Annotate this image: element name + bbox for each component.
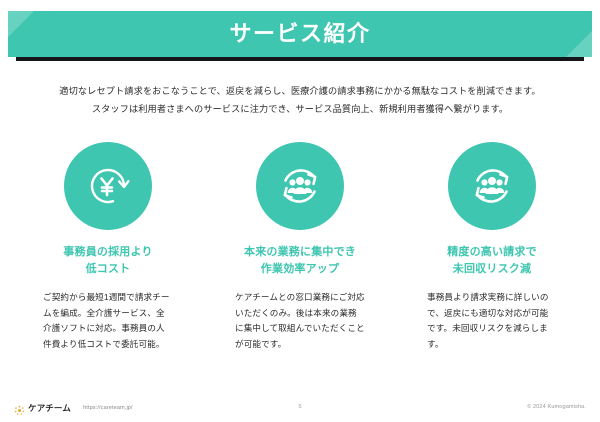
feature-body: ケアチームとの窓口業務にご対応いただくのみ。後は本来の業務に集中して取組んでいた… (235, 290, 365, 352)
intro-line-1: 適切なレセプト請求をおこなうことで、返戻を減らし、医療介護の請求事務にかかる無駄… (30, 82, 570, 100)
feature-heading-line-2: 未回収リスク減 (447, 261, 537, 278)
people-cycle-icon (256, 142, 344, 230)
yen-refresh-icon (64, 142, 152, 230)
feature-column-accuracy: 精度の高い請求で 未回収リスク減 事務員より請求実務に詳しいので、返戻にも適切な… (410, 142, 574, 352)
feature-columns: 事務員の採用より 低コスト ご契約から最短1週間で請求チームを編成。全介護サービ… (26, 142, 574, 352)
feature-heading: 事務員の採用より 低コスト (63, 244, 152, 278)
feature-heading-line-1: 事務員の採用より (63, 244, 152, 261)
feature-body: ご契約から最短1週間で請求チームを編成。全介護サービス、全介護ソフトに対応。事務… (43, 290, 173, 352)
feature-heading-line-1: 本来の業務に集中でき (244, 244, 356, 261)
feature-heading: 本来の業務に集中でき 作業効率アップ (244, 244, 356, 278)
feature-body: 事務員より請求実務に詳しいので、返戻にも適切な対応が可能です。未回収リスクを減ら… (427, 290, 557, 352)
copyright-notice: © 2024 Kumogamisha. (527, 404, 586, 410)
feature-column-low-cost: 事務員の採用より 低コスト ご契約から最短1週間で請求チームを編成。全介護サービ… (26, 142, 190, 352)
feature-heading-line-1: 精度の高い請求で (447, 244, 537, 261)
slide-header: サービス紹介 (0, 0, 600, 70)
intro-line-2: スタッフは利用者さまへのサービスに注力でき、サービス品質向上、新規利用者獲得へ繋… (30, 100, 570, 118)
feature-heading: 精度の高い請求で 未回収リスク減 (447, 244, 537, 278)
people-cycle-icon (448, 142, 536, 230)
page-title: サービス紹介 (8, 11, 592, 57)
header-banner: サービス紹介 (8, 11, 592, 57)
slide-footer: ケアチーム https://careteam.jp/ 5 © 2024 Kumo… (0, 398, 600, 422)
feature-heading-line-2: 低コスト (63, 261, 152, 278)
feature-column-efficiency: 本来の業務に集中でき 作業効率アップ ケアチームとの窓口業務にご対応いただくのみ… (218, 142, 382, 352)
header-underbar (16, 57, 584, 61)
page-number: 5 (0, 404, 600, 410)
intro-paragraph: 適切なレセプト請求をおこなうことで、返戻を減らし、医療介護の請求事務にかかる無駄… (30, 82, 570, 118)
feature-heading-line-2: 作業効率アップ (244, 261, 356, 278)
